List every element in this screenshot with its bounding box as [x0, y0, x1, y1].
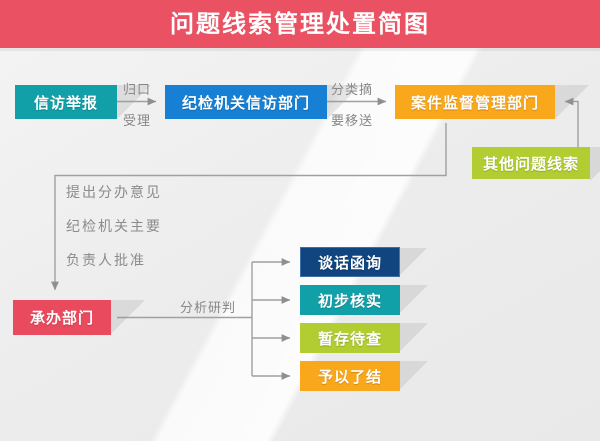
edge-label-intake-line2: 受理 — [123, 110, 151, 129]
page-title: 问题线索管理处置简图 — [0, 0, 600, 48]
edge-label-analysis: 分析研判 — [180, 297, 236, 316]
node-report-label: 信访举报 — [34, 92, 98, 113]
node-outcome-2[interactable]: 初步核实 — [300, 285, 400, 315]
note-line-2: 纪检机关主要 — [66, 216, 162, 236]
node-handling-dept-label: 承办部门 — [30, 307, 94, 328]
node-case-supervision-label: 案件监督管理部门 — [411, 92, 539, 113]
node-outcome-4[interactable]: 予以了结 — [300, 361, 400, 391]
node-report[interactable]: 信访举报 — [15, 85, 117, 119]
edge-label-transfer-line1: 分类摘 — [331, 79, 373, 98]
node-outcome-1-label: 谈话函询 — [318, 252, 382, 273]
note-line-3: 负责人批准 — [66, 250, 146, 270]
node-outcome-4-label: 予以了结 — [318, 366, 382, 387]
edge-label-intake-line1: 归口 — [123, 79, 151, 98]
title-divider — [0, 48, 600, 51]
node-petition-dept-label: 纪检机关信访部门 — [182, 92, 310, 113]
node-outcome-2-label: 初步核实 — [318, 290, 382, 311]
title-bar: 问题线索管理处置简图 — [0, 0, 600, 48]
node-handling-dept[interactable]: 承办部门 — [13, 300, 111, 335]
node-outcome-1[interactable]: 谈话函询 — [300, 247, 400, 277]
node-other-clues-label: 其他问题线索 — [483, 153, 579, 174]
node-outcome-3-label: 暂存待查 — [318, 328, 382, 349]
node-case-supervision[interactable]: 案件监督管理部门 — [395, 85, 555, 119]
node-outcome-3[interactable]: 暂存待查 — [300, 323, 400, 353]
flowchart-page: 问题线索管理处置简图 — [0, 0, 600, 441]
node-petition-dept[interactable]: 纪检机关信访部门 — [165, 85, 327, 119]
note-line-1: 提出分办意见 — [66, 182, 162, 202]
node-other-clues[interactable]: 其他问题线索 — [472, 147, 590, 179]
edge-label-transfer-line2: 要移送 — [331, 110, 373, 129]
